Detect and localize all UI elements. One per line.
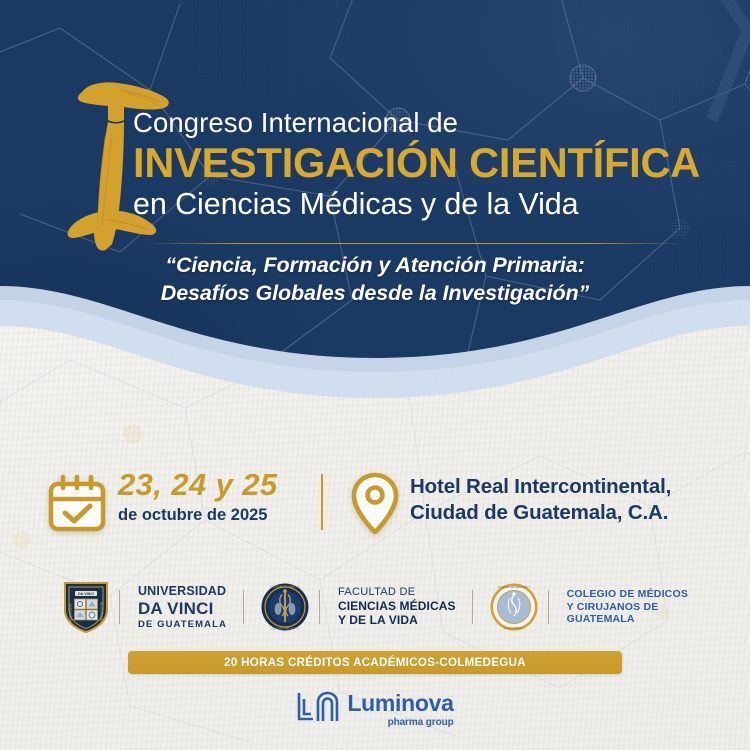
logo-text-da-vinci: UNIVERSIDAD DA VINCI DE GUATEMALA	[138, 584, 227, 630]
logo-divider	[548, 590, 549, 624]
svg-text:DA VINCI: DA VINCI	[78, 592, 94, 596]
fc-line-3: Y DE LA VIDA	[338, 613, 456, 627]
event-venue: Hotel Real Intercontinental, Ciudad de G…	[410, 474, 730, 526]
colmedegua-seal-icon: COLEGIO DE MEDICOS Y DE GUATEMALA	[489, 582, 539, 632]
svg-text:DE GUATEMALA: DE GUATEMALA	[99, 602, 103, 627]
date-month-year: de octubre de 2025	[118, 506, 318, 525]
title-stack: Congreso Internacional de INVESTIGACIÓN …	[133, 108, 713, 221]
sponsor-tagline: pharma group	[347, 717, 453, 728]
calendar-check-icon	[46, 472, 108, 534]
info-vertical-divider	[321, 474, 323, 530]
title-line-3: en Ciencias Médicas y de la Vida	[133, 188, 713, 222]
cm-line-1: COLEGIO DE MÉDICOS	[567, 588, 688, 600]
fc-line-1: FACULTAD DE	[338, 586, 456, 599]
logo-divider	[319, 590, 320, 624]
logo-text-colegio: COLEGIO DE MÉDICOS Y CIRUJANOS DE GUATEM…	[567, 588, 688, 625]
venue-line-1: Hotel Real Intercontinental,	[410, 474, 730, 500]
shield-crest-icon: DA VINCI UNIVERSIDAD DE GUATEMALA	[62, 580, 110, 634]
dv-line-3: DE GUATEMALA	[138, 619, 227, 630]
dv-line-1: UNIVERSIDAD	[138, 584, 227, 599]
credits-ribbon: 20 HORAS CRÉDITOS ACADÉMICOS-COLMEDEGUA	[128, 651, 622, 674]
event-poster: Congreso Internacional de INVESTIGACIÓN …	[0, 0, 750, 750]
quote-line-2: Desafíos Globales desde la Investigación…	[95, 280, 655, 308]
title-area: Congreso Internacional de INVESTIGACIÓN …	[0, 0, 750, 330]
event-date: 23, 24 y 25 de octubre de 2025	[118, 469, 318, 525]
svg-text:MEDICAS Y DE LA VIDA: MEDICAS Y DE LA VIDA	[270, 626, 299, 630]
venue-line-2: Ciudad de Guatemala, C.A.	[410, 500, 730, 526]
logo-text-facultad: FACULTAD DE CIENCIAS MÉDICAS Y DE LA VID…	[338, 586, 456, 627]
date-days: 23, 24 y 25	[118, 469, 318, 502]
title-line-2: INVESTIGACIÓN CIENTÍFICA	[133, 141, 713, 186]
title-line-1: Congreso Internacional de	[133, 108, 713, 139]
logo-colegio-medicos: COLEGIO DE MEDICOS Y DE GUATEMALA COLEGI…	[489, 578, 688, 636]
medical-seal-icon: FACULTAD DE CIENCIAS MEDICAS Y DE LA VID…	[260, 582, 310, 632]
luminova-ln-monogram-icon	[296, 690, 340, 724]
event-theme-quote: “Ciencia, Formación y Atención Primaria:…	[95, 252, 655, 307]
gold-divider	[145, 243, 685, 244]
partner-logos-row: DA VINCI UNIVERSIDAD DE GUATEMALA UNIVER…	[0, 576, 750, 638]
svg-text:COLEGIO DE MEDICOS Y: COLEGIO DE MEDICOS Y	[497, 585, 530, 589]
svg-text:FACULTAD DE CIENCIAS: FACULTAD DE CIENCIAS	[270, 585, 301, 589]
sponsor-name: Luminova	[347, 692, 453, 715]
dv-line-2: DA VINCI	[138, 599, 227, 619]
logo-facultad-ciencias-medicas: FACULTAD DE CIENCIAS MEDICAS Y DE LA VID…	[260, 578, 456, 636]
logos-divider-1	[243, 590, 244, 624]
svg-text:UNIVERSIDAD: UNIVERSIDAD	[69, 603, 73, 625]
logo-universidad-da-vinci: DA VINCI UNIVERSIDAD DE GUATEMALA UNIVER…	[62, 578, 227, 636]
cm-line-2: Y CIRUJANOS DE	[567, 601, 688, 613]
logos-divider-2	[472, 590, 473, 624]
sponsor-luminova: Luminova pharma group	[0, 686, 750, 732]
logo-divider	[119, 590, 120, 624]
cm-line-3: GUATEMALA	[567, 613, 688, 625]
location-pin-icon	[348, 470, 402, 536]
credits-ribbon-text: 20 HORAS CRÉDITOS ACADÉMICOS-COLMEDEGUA	[224, 657, 526, 669]
fc-line-2: CIENCIAS MÉDICAS	[338, 599, 456, 613]
svg-text:DE GUATEMALA: DE GUATEMALA	[503, 626, 524, 630]
quote-line-1: “Ciencia, Formación y Atención Primaria:	[95, 252, 655, 280]
event-info-row: 23, 24 y 25 de octubre de 2025 Hotel Rea…	[0, 462, 750, 544]
